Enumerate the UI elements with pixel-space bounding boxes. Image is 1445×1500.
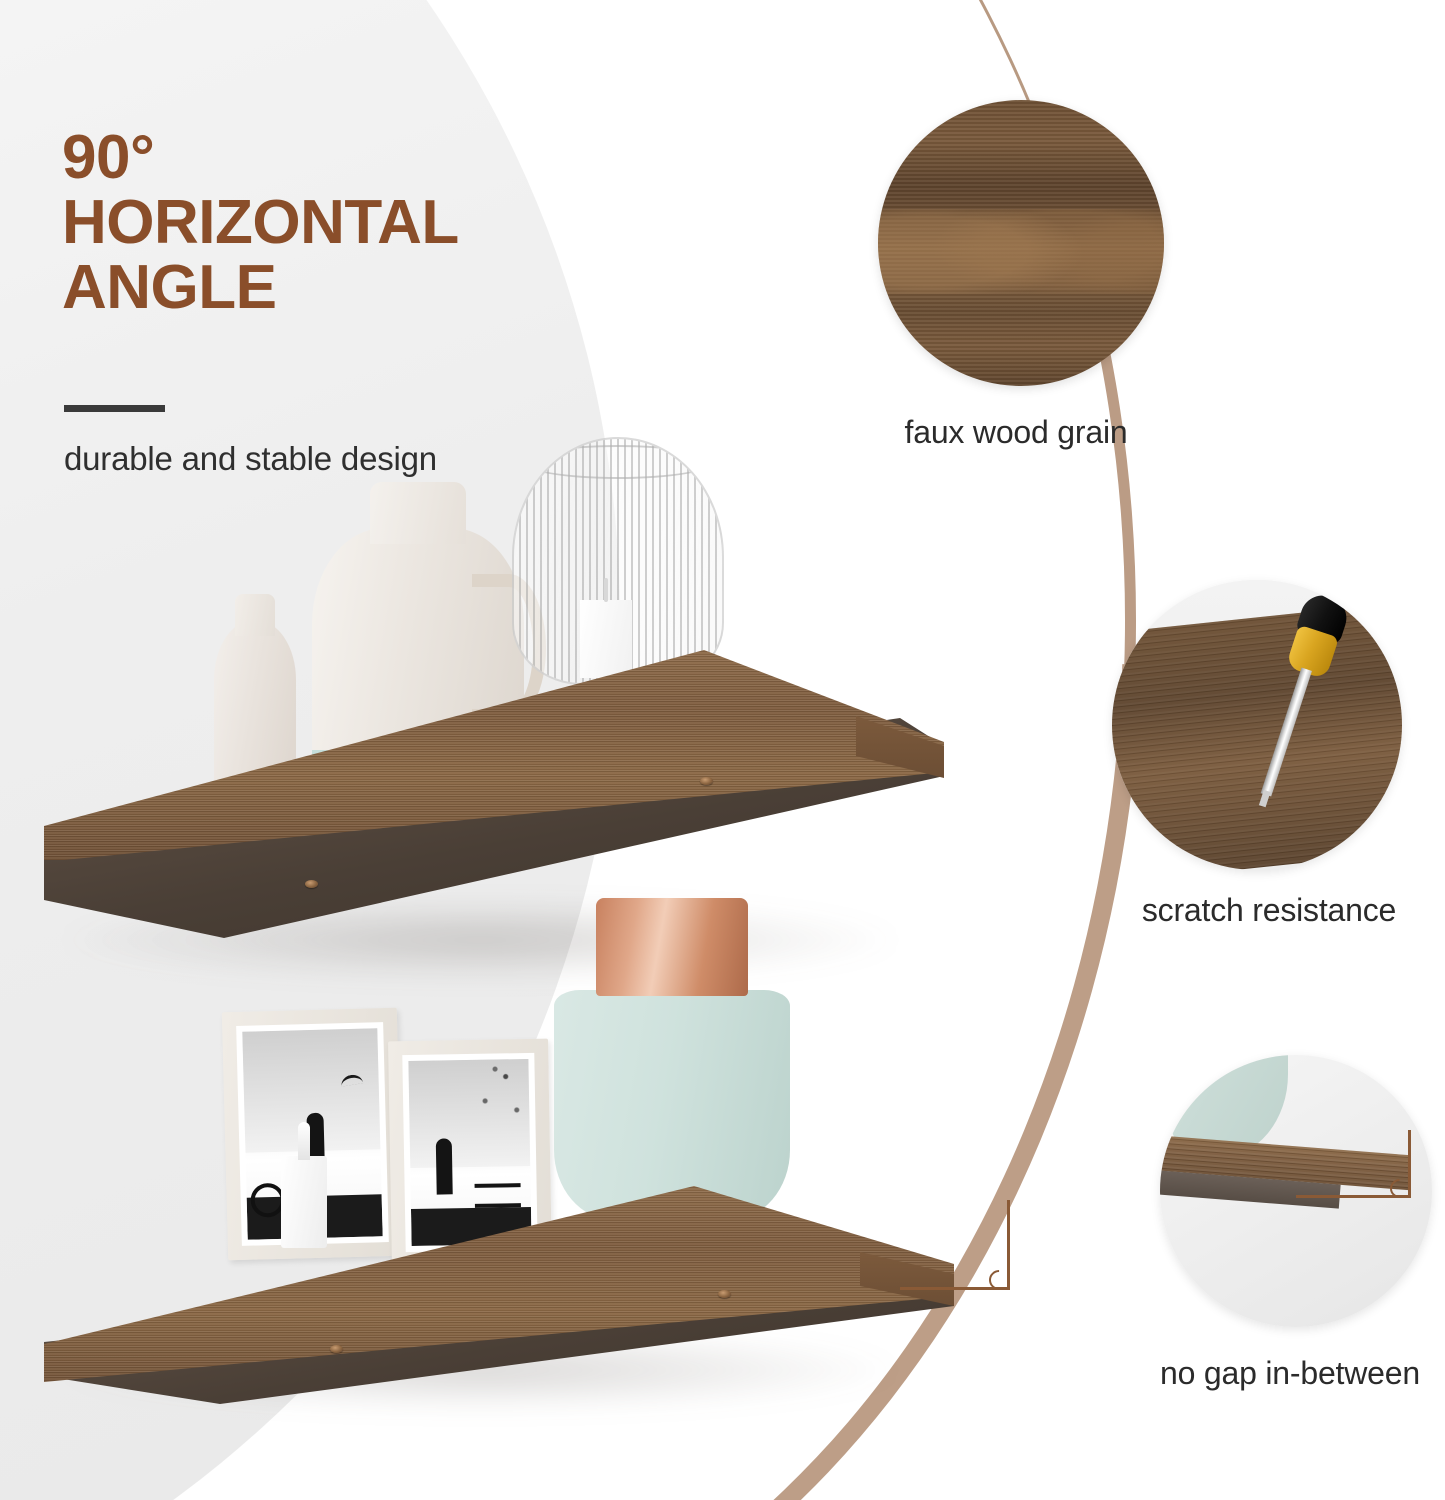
jug-neck [370, 482, 466, 544]
wood-cathedral-figure [878, 209, 1164, 295]
vase-copper-top [596, 898, 748, 996]
headline-degree: 90° [62, 125, 702, 190]
title-underline-rule [64, 405, 165, 412]
ninety-degree-corner-marker-inset [1356, 1130, 1416, 1210]
photo-branch [457, 1059, 528, 1154]
white-pillar-candle [580, 600, 632, 678]
subtitle: durable and stable design [64, 440, 437, 478]
feature-faux-wood-grain: faux wood grain [866, 100, 1166, 460]
photo-bench-object [475, 1183, 521, 1208]
infographic-canvas: 90° HORIZONTAL ANGLE durable and stable … [0, 0, 1445, 1500]
feature-caption: no gap in-between [1130, 1355, 1445, 1392]
no-gap-demo-icon [1160, 1055, 1432, 1327]
page-title: 90° HORIZONTAL ANGLE [62, 125, 702, 320]
feature-no-gap-in-between: no gap in-between [1130, 1055, 1445, 1415]
photo-bench [408, 1059, 531, 1246]
upper-shelf-screw-hole-left [305, 880, 318, 888]
lower-shelf-screw-hole-right [718, 1290, 731, 1298]
feature-caption: scratch resistance [1104, 892, 1434, 929]
headline-line-2: ANGLE [62, 255, 702, 320]
photo-figure [436, 1138, 453, 1194]
headline-line-1: HORIZONTAL [62, 190, 702, 255]
scratch-demo-icon [1112, 580, 1402, 870]
wood-board-surface [1112, 599, 1402, 870]
candle-wick [604, 578, 608, 602]
upper-shelf-screw-hole-right [700, 777, 713, 785]
vase-neck [235, 594, 275, 636]
candle-wick [298, 1122, 310, 1160]
lower-shelf-screw-hole-left [330, 1345, 343, 1353]
feature-scratch-resistance: scratch resistance [1104, 580, 1434, 940]
white-cylinder-candle [281, 1156, 327, 1248]
ninety-degree-corner-marker [955, 1200, 1015, 1300]
feature-caption: faux wood grain [866, 414, 1166, 451]
mint-vase-copper-top [554, 990, 790, 1220]
wood-grain-swatch-icon [878, 100, 1164, 386]
hurricane-rim [522, 445, 713, 479]
